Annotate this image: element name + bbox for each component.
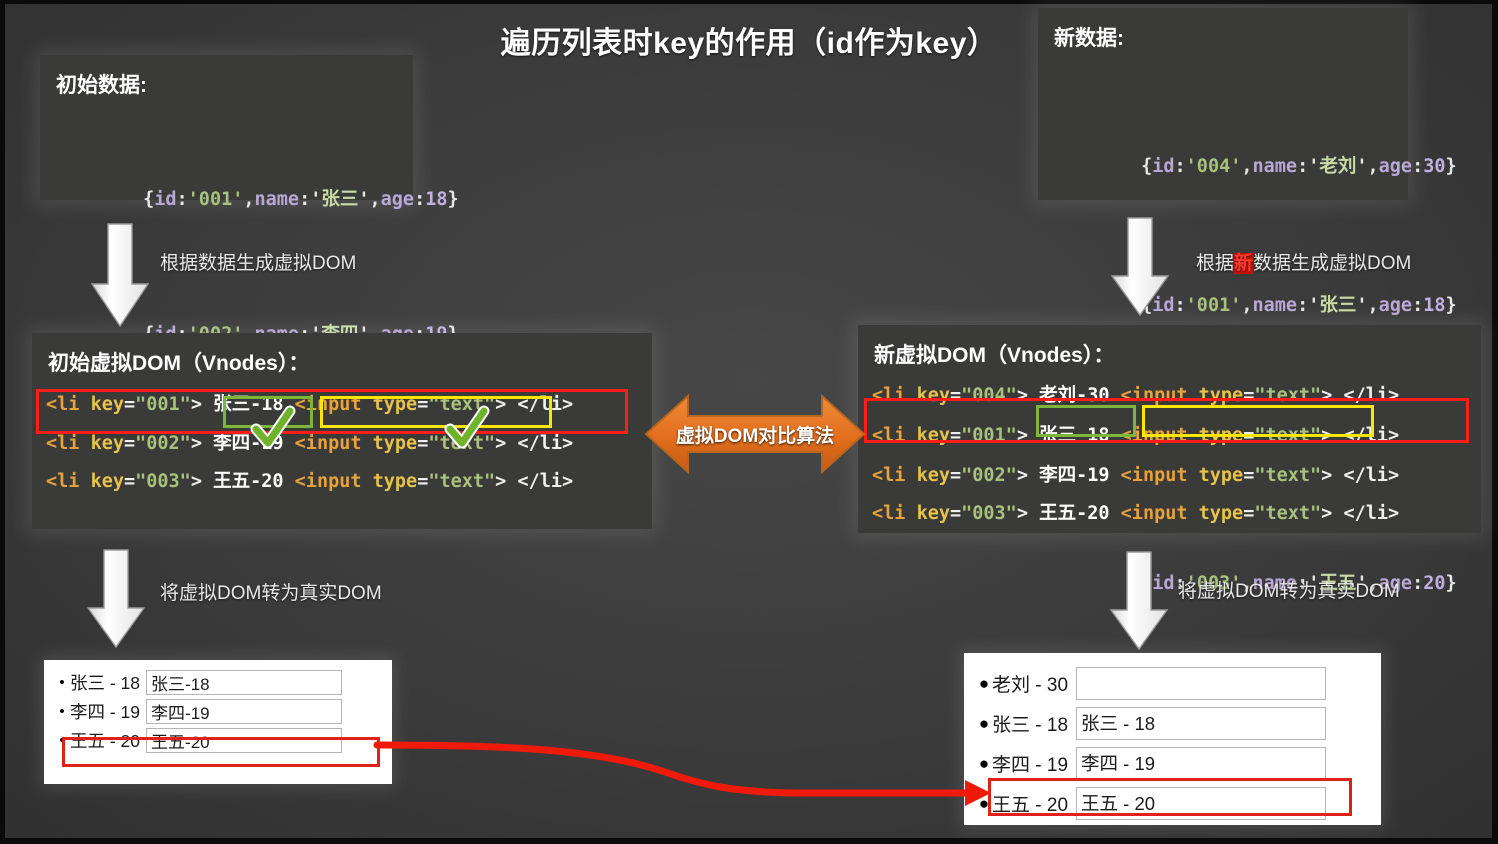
vnode-text: 王五-20 [213,471,283,492]
text-input[interactable]: 张三-18 [146,670,342,695]
vnode-row: <li key="002"> 李四-19 <input type="text">… [872,457,1467,495]
real-dom-right: ● 老刘 - 30 ● 张三 - 18 张三 - 18 ● 李四 - 19 李四… [964,653,1381,825]
real-dom-left: • 张三 - 18 张三-18 • 李四 - 19 李四-19 • 王五 - 2… [44,660,392,784]
comma: , [243,189,254,210]
list-item-label: 张三 - 18 [70,670,140,695]
gt: > [1321,465,1332,486]
vnode-code: <li key="001"> 张三-18 <input type="text">… [872,423,1399,450]
gt: > [495,471,506,492]
equals: = [417,433,428,454]
key-name: name [1253,156,1298,177]
list-item-label: 张三 - 18 [992,710,1068,737]
list-item-label: 老刘 - 30 [992,670,1068,697]
old-vnodes-panel: 初始虚拟DOM（Vnodes）： <li key="001"> 张三-18 <i… [32,333,652,529]
bullet-icon: ● [976,675,992,692]
list-item: ● 老刘 - 30 [976,663,1367,703]
vnode-code: <li key="001"> 张三-18 <input type="text">… [46,392,573,419]
li-tag: <li [872,465,905,486]
key-value: "001" [961,425,1017,446]
value-name: 老刘 [1319,156,1356,177]
gt: > [1017,465,1028,486]
value-age: 18 [425,189,447,210]
list-item: • 王五 - 20 王五-20 [54,726,380,755]
generate-vdom-label-right: 根据新数据生成虚拟DOM [1196,248,1411,275]
equals: = [1243,425,1254,446]
li-tag: <li [46,433,79,454]
text-input[interactable]: 王五-20 [146,728,342,753]
list-item: ● 王五 - 20 王五 - 20 [976,783,1367,823]
letterbox-right [1492,0,1498,844]
vnode-code: <li key="004"> 老刘-30 <input type="text">… [872,383,1399,410]
equals: = [950,385,961,406]
list-item: • 张三 - 18 张三-18 [54,668,380,697]
text-input[interactable]: 张三 - 18 [1076,707,1326,740]
new-data-heading: 新数据: [1054,22,1394,52]
input-tag: <input [1121,385,1188,406]
vnode-text: 王五-20 [1039,503,1109,524]
initial-data-panel: 初始数据: {id:'001',name:'张三',age:18} {id:'0… [40,55,413,200]
equals: = [1243,465,1254,486]
colon: : [1175,156,1186,177]
key-attr: key [91,471,124,492]
render-real-dom-label-left: 将虚拟DOM转为真实DOM [160,578,382,605]
type-value: "text" [1254,425,1321,446]
check-mark-icon [444,405,490,451]
value-age: 18 [1423,295,1445,316]
li-close: </li> [1343,425,1399,446]
type-attr: type [373,471,418,492]
colon: : [414,189,425,210]
key-name: name [255,189,300,210]
type-attr: type [373,394,418,415]
generate-vdom-arrow-right [1108,218,1172,318]
colon: : [1175,295,1186,316]
key-attr: key [917,503,950,524]
key-attr: key [917,465,950,486]
value-id: '001' [188,189,244,210]
gt: > [495,433,506,454]
key-age: age [381,189,414,210]
value-name: 张三 [321,189,358,210]
bullet-icon: • [54,675,70,690]
colon: : [1412,156,1423,177]
brace-close: } [1446,156,1457,177]
key-attr: key [917,425,950,446]
new-vnodes-panel: 新虚拟DOM（Vnodes）： <li key="004"> 老刘-30 <in… [858,325,1481,533]
li-close: </li> [1343,503,1399,524]
key-value: "004" [961,385,1017,406]
gt: > [1017,385,1028,406]
li-tag: <li [872,425,905,446]
key-attr: key [917,385,950,406]
letterbox-bottom [0,838,1498,844]
quote-comma: ', [1356,156,1378,177]
input-tag: <input [295,471,362,492]
value-id: '001' [1186,295,1242,316]
key-attr: key [91,394,124,415]
li-close: </li> [1343,385,1399,406]
colon-quote: :' [1297,295,1319,316]
equals: = [124,471,135,492]
vnode-row: <li key="001"> 张三-18 <input type="text">… [872,415,1467,457]
colon-quote: :' [1297,156,1319,177]
brace-open: { [143,189,154,210]
equals: = [417,394,428,415]
equals: = [1243,385,1254,406]
vnode-row: <li key="004"> 老刘-30 <input type="text">… [872,377,1467,415]
equals: = [950,425,961,446]
input-tag: <input [295,394,362,415]
label-part-post: 数据生成虚拟DOM [1253,253,1411,274]
key-age: age [1379,295,1412,316]
brace-close: } [1446,573,1457,594]
list-item-label: 王五 - 20 [992,790,1068,817]
gt: > [1321,503,1332,524]
type-attr: type [1199,465,1244,486]
value-name: 张三 [1319,295,1356,316]
type-attr: type [373,433,418,454]
input-tag: <input [1121,425,1188,446]
input-tag: <input [1121,503,1188,524]
letterbox-left [0,0,5,844]
gt: > [1017,425,1028,446]
li-tag: <li [872,385,905,406]
equals: = [950,465,961,486]
value-id: '004' [1186,156,1242,177]
label-part-pre: 根据 [1196,253,1234,274]
bullet-icon: • [54,733,70,748]
vnode-row: <li key="002"> 李四-19 <input type="text">… [46,425,638,463]
comma: , [1241,295,1252,316]
text-input[interactable]: 李四 - 19 [1076,747,1326,780]
slide-canvas: 遍历列表时key的作用（id作为key） 初始数据: {id:'001',nam… [0,0,1498,844]
vnode-code: <li key="003"> 王五-20 <input type="text">… [46,469,573,496]
data-row: {id:'004',name:'老刘',age:30} [1052,126,1394,209]
input-tag: <input [295,433,362,454]
brace-open: { [1141,156,1152,177]
old-vnodes-heading: 初始虚拟DOM（Vnodes）： [48,347,638,377]
list-item-label: 李四 - 19 [70,699,140,724]
list-item: • 李四 - 19 李四-19 [54,697,380,726]
equals: = [124,394,135,415]
gt: > [1321,385,1332,406]
key-attr: key [91,433,124,454]
key-value: "002" [961,465,1017,486]
list-item: ● 张三 - 18 张三 - 18 [976,703,1367,743]
quote-comma: ', [358,189,380,210]
li-close: </li> [517,394,573,415]
key-value: "003" [961,503,1017,524]
key-value: "001" [135,394,191,415]
generate-vdom-arrow-left [88,222,152,330]
text-input[interactable]: 王五 - 20 [1076,787,1326,820]
type-attr: type [1199,425,1244,446]
vdom-diff-arrow: 虚拟DOM对比算法 [644,392,866,476]
render-real-dom-arrow-right [1108,552,1170,652]
value-age: 30 [1423,156,1445,177]
gt: > [191,433,202,454]
initial-data-heading: 初始数据: [56,69,399,99]
dom-reuse-connector-arrow [375,700,995,830]
colon-quote: :' [299,189,321,210]
li-close: </li> [1343,465,1399,486]
type-value: "text" [1254,503,1321,524]
li-close: </li> [517,433,573,454]
key-id: id [1152,156,1174,177]
vnode-code: <li key="002"> 李四-19 <input type="text">… [872,463,1399,490]
key-name: name [1253,295,1298,316]
bullet-icon: • [54,704,70,719]
list-item: ● 李四 - 19 李四 - 19 [976,743,1367,783]
vnode-text: 老刘-30 [1039,385,1109,406]
equals: = [950,503,961,524]
gt: > [191,394,202,415]
vnode-text: 张三-18 [1039,425,1109,446]
input-tag: <input [1121,465,1188,486]
vnode-row: <li key="001"> 张三-18 <input type="text">… [46,385,638,425]
generate-vdom-label-left: 根据数据生成虚拟DOM [160,248,356,275]
brace-close: } [448,189,459,210]
new-vnodes-heading: 新虚拟DOM（Vnodes）： [874,339,1467,369]
text-input[interactable] [1076,667,1326,700]
render-real-dom-arrow-left [85,550,147,650]
equals: = [1243,503,1254,524]
text-input[interactable]: 李四-19 [146,699,342,724]
li-close: </li> [517,471,573,492]
vdom-diff-label: 虚拟DOM对比算法 [644,392,866,476]
equals: = [124,433,135,454]
key-value: "002" [135,433,191,454]
comma: , [1241,156,1252,177]
check-mark-icon [250,405,296,451]
new-data-panel: 新数据: {id:'004',name:'老刘',age:30} {id:'00… [1038,8,1408,200]
render-real-dom-label-right: 将虚拟DOM转为真实DOM [1178,576,1400,603]
vnode-code: <li key="003"> 王五-20 <input type="text">… [872,501,1399,528]
key-age: age [1379,156,1412,177]
colon: : [177,189,188,210]
label-highlight-new: 新 [1234,253,1253,274]
type-attr: type [1199,503,1244,524]
letterbox-top [0,0,1498,4]
type-value: "text" [1254,385,1321,406]
li-tag: <li [46,394,79,415]
type-attr: type [1199,385,1244,406]
colon: : [1412,295,1423,316]
key-id: id [154,189,176,210]
list-item-label: 王五 - 20 [70,728,140,753]
quote-comma: ', [1356,295,1378,316]
list-item-label: 李四 - 19 [992,750,1068,777]
gt: > [1321,425,1332,446]
type-value: "text" [428,471,495,492]
gt: > [1017,503,1028,524]
type-value: "text" [1254,465,1321,486]
equals: = [417,471,428,492]
value-age: 20 [1423,573,1445,594]
vnode-text: 李四-19 [1039,465,1109,486]
li-tag: <li [872,503,905,524]
gt: > [191,471,202,492]
vnode-row: <li key="003"> 王五-20 <input type="text">… [46,463,638,501]
gt: > [495,394,506,415]
key-value: "003" [135,471,191,492]
vnode-row: <li key="003"> 王五-20 <input type="text">… [872,495,1467,533]
colon: : [1412,573,1423,594]
brace-close: } [1446,295,1457,316]
vnode-code: <li key="002"> 李四-19 <input type="text">… [46,431,573,458]
li-tag: <li [46,471,79,492]
